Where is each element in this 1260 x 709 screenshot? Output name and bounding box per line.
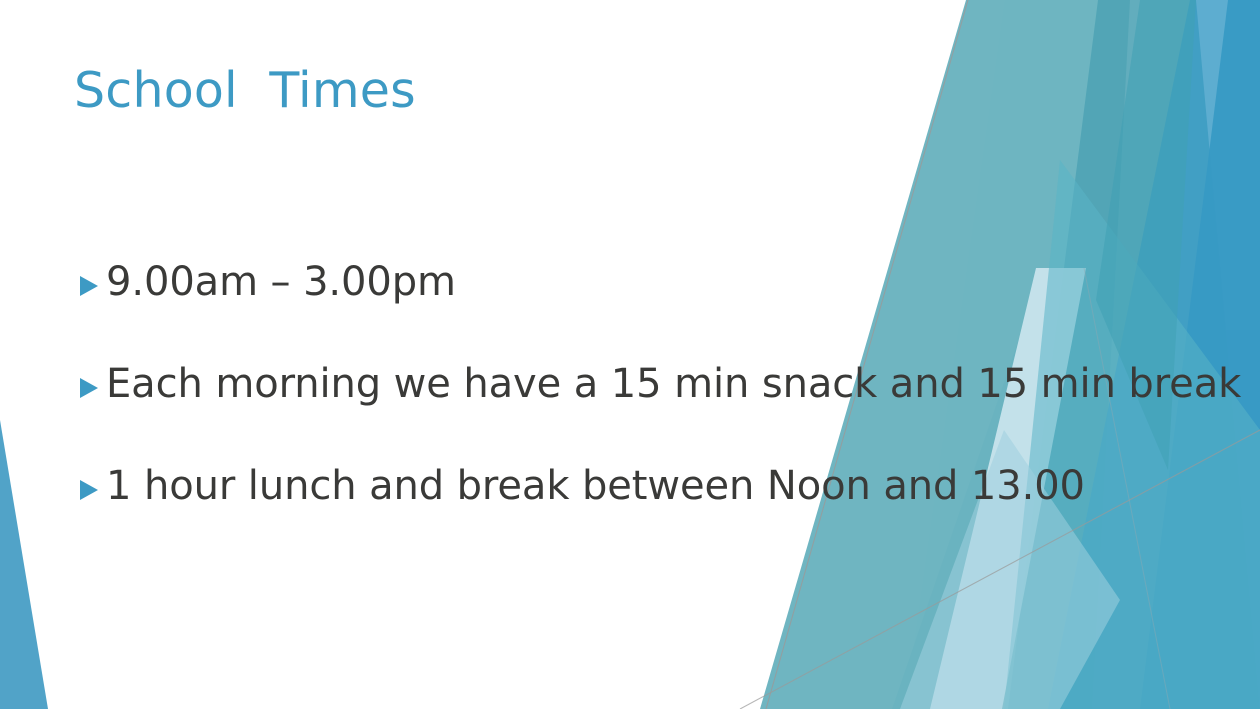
presentation-slide: School Times 9.00am – 3.00pm Each mornin… bbox=[0, 0, 1260, 709]
triangle-right-bullet-icon bbox=[78, 274, 100, 298]
bullet-text: Each morning we have a 15 min snack and … bbox=[106, 364, 1241, 404]
slide-title: School Times bbox=[74, 63, 416, 119]
triangle-right-bullet-icon bbox=[78, 478, 100, 502]
bullet-text: 9.00am – 3.00pm bbox=[106, 262, 1208, 302]
bullet-list: 9.00am – 3.00pm Each morning we have a 1… bbox=[78, 262, 1208, 506]
bullet-text: 1 hour lunch and break between Noon and … bbox=[106, 466, 1208, 506]
list-item: 1 hour lunch and break between Noon and … bbox=[78, 466, 1208, 506]
decor-left-wedge bbox=[0, 420, 48, 709]
list-item: 9.00am – 3.00pm bbox=[78, 262, 1208, 302]
triangle-right-bullet-icon bbox=[78, 376, 100, 400]
list-item: Each morning we have a 15 min snack and … bbox=[78, 364, 1208, 404]
